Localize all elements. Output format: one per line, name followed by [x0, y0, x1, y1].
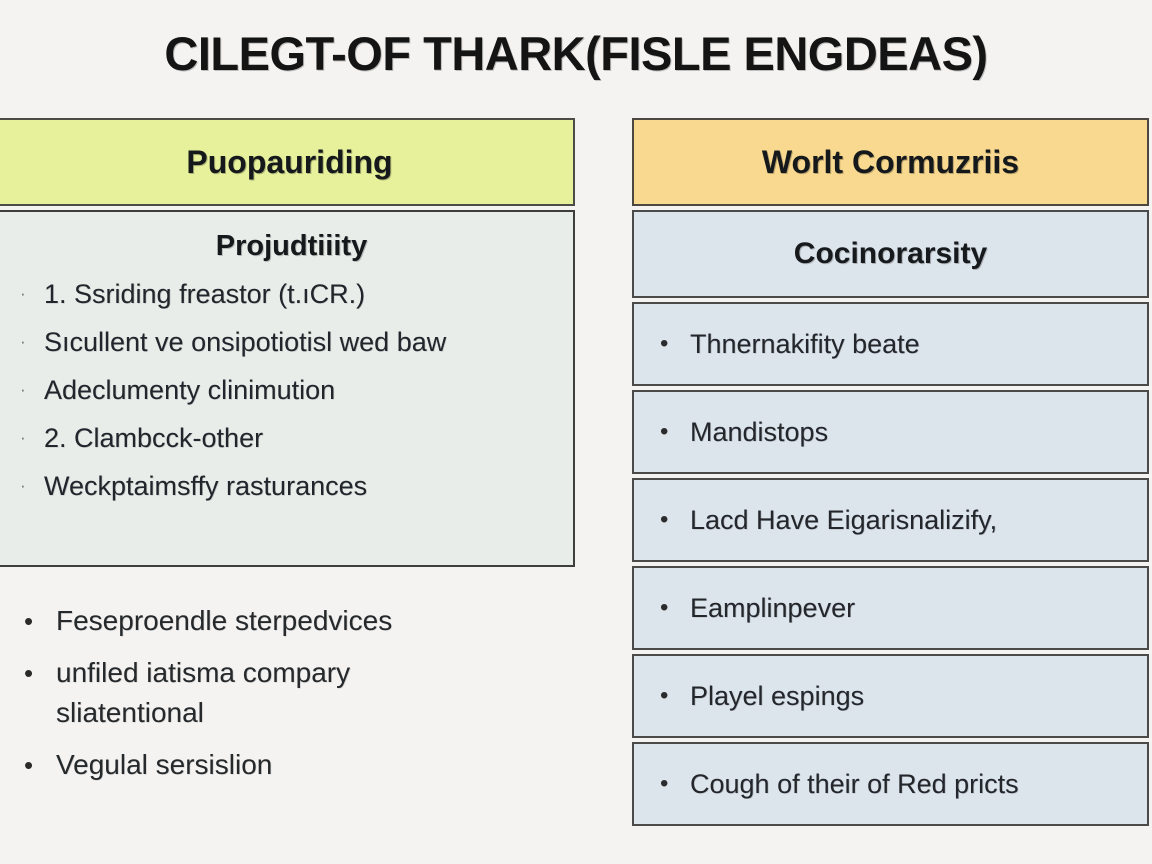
right-column-subheader: Cocinorarsity	[632, 210, 1149, 298]
list-item: · Weckptaimsffy rasturances	[6, 469, 563, 503]
bullet-dot-icon: •	[660, 418, 690, 446]
right-column-header: Worlt Cormuzriis	[632, 118, 1149, 206]
table-row: • Cough of their of Red pricts	[632, 742, 1149, 826]
bullet-dot-icon: •	[660, 594, 690, 622]
list-item: · 2. Clambcck-other	[6, 421, 563, 455]
left-column: Puopauriding Projudtiiity · 1. Ssriding …	[0, 118, 575, 797]
list-item-label: unfiled iatisma compary sliatentional	[56, 653, 476, 733]
list-item: · 1. Ssriding freastor (t.ıCR.)	[6, 277, 563, 311]
right-column-header-label: Worlt Cormuzriis	[762, 144, 1019, 181]
list-item: · Adeclumenty clinimution	[6, 373, 563, 407]
left-column-content-box: Projudtiiity · 1. Ssriding freastor (t.ı…	[0, 210, 575, 567]
bullet-dot-icon: •	[24, 653, 56, 693]
table-row: • Lacd Have Eigarisnalizify,	[632, 478, 1149, 562]
list-item-label: Weckptaimsffy rasturances	[44, 469, 367, 503]
right-column-subheader-label: Cocinorarsity	[794, 237, 987, 271]
list-item: · Sıcullent ve onsipotiotisl wed baw	[6, 325, 563, 359]
list-item-label: Feseproendle sterpedvices	[56, 601, 392, 641]
table-row-label: Cough of their of Red pricts	[690, 769, 1019, 800]
list-item-label: Adeclumenty clinimution	[44, 373, 335, 407]
left-column-header: Puopauriding	[0, 118, 575, 206]
right-column: Worlt Cormuzriis Cocinorarsity • Thnerna…	[632, 118, 1149, 826]
bullet-dot-icon: ·	[20, 277, 44, 311]
bullet-dot-icon: •	[24, 601, 56, 641]
bullet-dot-icon: •	[660, 682, 690, 710]
list-item-label: Sıcullent ve onsipotiotisl wed baw	[44, 325, 446, 359]
list-item-label: Vegulal sersislion	[56, 745, 272, 785]
bullet-dot-icon: ·	[20, 469, 44, 503]
table-row-label: Playel espings	[690, 681, 864, 712]
left-column-header-label: Puopauriding	[176, 144, 392, 181]
bullet-dot-icon: ·	[20, 373, 44, 407]
table-row: • Eamplinpever	[632, 566, 1149, 650]
list-item: • Feseproendle sterpedvices	[24, 601, 575, 641]
bullet-dot-icon: •	[660, 506, 690, 534]
bullet-dot-icon: •	[660, 330, 690, 358]
bullet-dot-icon: ·	[20, 421, 44, 455]
table-row: • Playel espings	[632, 654, 1149, 738]
table-row: • Thnernakifity beate	[632, 302, 1149, 386]
table-row-label: Mandistops	[690, 417, 828, 448]
table-row-label: Lacd Have Eigarisnalizify,	[690, 505, 997, 536]
list-item: • Vegulal sersislion	[24, 745, 575, 785]
left-column-outer-list: • Feseproendle sterpedvices • unfiled ia…	[0, 601, 575, 785]
list-item-label: 2. Clambcck-other	[44, 421, 263, 455]
bullet-dot-icon: ·	[20, 325, 44, 359]
table-row-label: Eamplinpever	[690, 593, 855, 624]
list-item: • unfiled iatisma compary sliatentional	[24, 653, 575, 733]
table-row: • Mandistops	[632, 390, 1149, 474]
bullet-dot-icon: •	[24, 745, 56, 785]
table-row-label: Thnernakifity beate	[690, 329, 920, 360]
left-box-subtitle: Projudtiiity	[20, 230, 563, 263]
bullet-dot-icon: •	[660, 770, 690, 798]
page-title: CILEGT-OF THARK(FISLE ENGDEAS)	[0, 26, 1152, 81]
list-item-label: 1. Ssriding freastor (t.ıCR.)	[44, 277, 365, 311]
